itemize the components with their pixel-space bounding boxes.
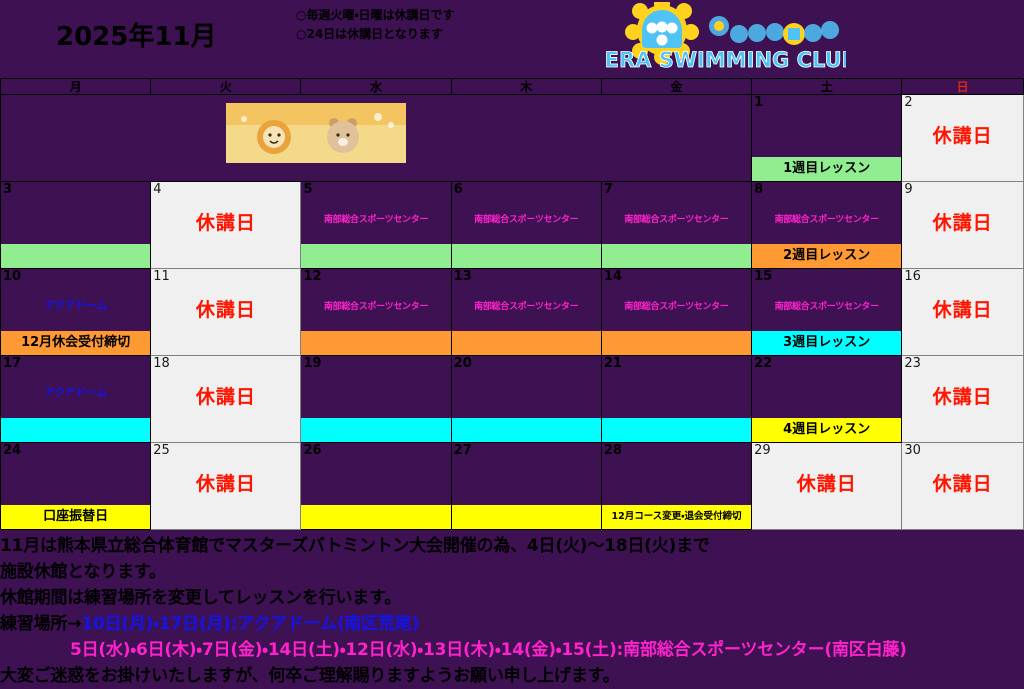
calendar-cell-class-day[interactable]: 11週目レッスン [752, 95, 902, 182]
calendar-week-row: 24口座振替日25休講日26272812月コース変更・退会受付締切29休講日30… [1, 443, 1024, 530]
calendar-week-row: 11週目レッスン2休講日 [1, 95, 1024, 182]
day-number: 22 [754, 356, 772, 371]
calendar-cell-rest-day[interactable]: 30休講日 [902, 443, 1024, 530]
calendar-cell-class-day[interactable]: 10アクアドーム12月休会受付締切 [1, 269, 151, 356]
footer-line-1: 11月は熊本県立総合体育館でマスターズバトミントン大会開催の為、4日(火)～18… [0, 533, 1024, 559]
day-number: 7 [604, 182, 613, 197]
rest-day-label: 休講日 [902, 208, 1023, 235]
day-number: 29 [754, 443, 771, 458]
day-number: 9 [904, 182, 912, 197]
day-number: 12 [303, 269, 321, 284]
rest-day-label: 休講日 [151, 295, 300, 322]
calendar-cell-class-day[interactable]: 224週目レッスン [752, 356, 902, 443]
weekday-header-3: 木 [451, 79, 601, 95]
venue-label: 南部総合スポーツセンター [752, 212, 901, 225]
calendar-cell-rest-day[interactable]: 25休講日 [151, 443, 301, 530]
venue-label: アクアドーム [1, 297, 150, 313]
calendar-cell-class-day[interactable]: 27 [451, 443, 601, 530]
calendar-cell-rest-day[interactable]: 29休講日 [752, 443, 902, 530]
day-number: 8 [754, 182, 763, 197]
day-number: 10 [3, 269, 21, 284]
venue-label: 南部総合スポーツセンター [602, 299, 751, 312]
footer-notice: 11月は熊本県立総合体育館でマスターズバトミントン大会開催の為、4日(火)～18… [0, 533, 1024, 689]
cell-band-blank [602, 418, 751, 442]
day-number: 27 [454, 443, 472, 458]
rest-day-label: 休講日 [902, 121, 1023, 148]
cell-band-blank [452, 418, 601, 442]
footer-line-3: 休館期間は練習場所を変更してレッスンを行います。 [0, 585, 1024, 611]
day-number: 28 [604, 443, 622, 458]
day-number: 11 [153, 269, 170, 284]
weekday-header-4: 金 [601, 79, 751, 95]
calendar-cell-class-day[interactable]: 13南部総合スポーツセンター [451, 269, 601, 356]
calendar-cell-class-day[interactable]: 15南部総合スポーツセンター3週目レッスン [752, 269, 902, 356]
cell-band-label: 4週目レッスン [752, 418, 901, 442]
footer-aquadome-schedule: 10日(月)・17日(月):アクアドーム(南区荒尾) [81, 614, 419, 634]
logo-graphic: TERA SWIMMING CLUB [606, 2, 846, 76]
calendar-cell-rest-day[interactable]: 4休講日 [151, 182, 301, 269]
day-number: 6 [454, 182, 463, 197]
venue-label: アクアドーム [1, 384, 150, 400]
footer-line-2: 施設休館となります。 [0, 559, 1024, 585]
calendar-body: 11週目レッスン2休講日34休講日5南部総合スポーツセンター6南部総合スポーツセ… [1, 95, 1024, 530]
calendar-cell-class-day[interactable]: 7南部総合スポーツセンター [601, 182, 751, 269]
cell-band-blank [602, 244, 751, 268]
calendar-cell-class-day[interactable]: 2812月コース変更・退会受付締切 [601, 443, 751, 530]
calendar-cell-rest-day[interactable]: 2休講日 [902, 95, 1024, 182]
rest-day-label: 休講日 [752, 469, 901, 496]
calendar-cell-class-day[interactable]: 17アクアドーム [1, 356, 151, 443]
venue-label: 南部総合スポーツセンター [602, 212, 751, 225]
calendar-cell-class-day[interactable]: 5南部総合スポーツセンター [301, 182, 451, 269]
tera-swimming-club-logo: TERA SWIMMING CLUB [606, 2, 846, 76]
day-number: 14 [604, 269, 622, 284]
weekday-header-6: 日 [902, 79, 1024, 95]
page-title: 2025年11月 [56, 16, 217, 53]
cell-band-blank [301, 331, 450, 355]
cell-band-label: 12月コース変更・退会受付締切 [602, 505, 751, 529]
day-number: 20 [454, 356, 472, 371]
venue-label: 南部総合スポーツセンター [301, 212, 450, 225]
venue-label: 南部総合スポーツセンター [301, 299, 450, 312]
day-number: 25 [153, 443, 170, 458]
rest-day-label: 休講日 [902, 469, 1023, 496]
cell-band-blank [452, 331, 601, 355]
footer-line-4: 練習場所→10日(月)・17日(月):アクアドーム(南区荒尾) [0, 611, 1024, 637]
cell-band-blank [602, 331, 751, 355]
cell-band-blank [1, 244, 150, 268]
calendar-cell-rest-day[interactable]: 16休講日 [902, 269, 1024, 356]
day-number: 26 [303, 443, 321, 458]
weekday-header-row: 月火水木金土日 [1, 79, 1024, 95]
day-number: 16 [904, 269, 921, 284]
bubbles-icon [709, 16, 839, 45]
calendar-cell-rest-day[interactable]: 9休講日 [902, 182, 1024, 269]
weekday-header-2: 水 [301, 79, 451, 95]
calendar-week-row: 34休講日5南部総合スポーツセンター6南部総合スポーツセンター7南部総合スポーツ… [1, 182, 1024, 269]
weekday-header-0: 月 [1, 79, 151, 95]
weekday-header-5: 土 [752, 79, 902, 95]
venue-label: 南部総合スポーツセンター [452, 299, 601, 312]
rest-day-label: 休講日 [151, 382, 300, 409]
day-number: 3 [3, 182, 12, 197]
weekday-header-1: 火 [151, 79, 301, 95]
cell-band-blank [301, 244, 450, 268]
rest-day-label: 休講日 [902, 382, 1023, 409]
calendar-cell-class-day[interactable]: 6南部総合スポーツセンター [451, 182, 601, 269]
header-note-1: ○毎週火曜・日曜は休講日です [296, 6, 455, 25]
calendar-cell-class-day[interactable]: 12南部総合スポーツセンター [301, 269, 451, 356]
day-number: 4 [153, 182, 161, 197]
cell-band-label: 3週目レッスン [752, 331, 901, 355]
cell-band-blank [301, 505, 450, 529]
rest-day-label: 休講日 [902, 295, 1023, 322]
calendar-cell-class-day[interactable]: 24口座振替日 [1, 443, 151, 530]
footer-practice-location-lead: 練習場所→ [0, 614, 81, 634]
page-header: 2025年11月 ○毎週火曜・日曜は休講日です ○24日は休講日となります [0, 0, 1024, 78]
venue-label: 南部総合スポーツセンター [452, 212, 601, 225]
calendar-cell-rest-day[interactable]: 18休講日 [151, 356, 301, 443]
day-number: 1 [754, 95, 763, 110]
header-note-2: ○24日は休講日となります [296, 25, 455, 44]
calendar-cell-rest-day[interactable]: 23休講日 [902, 356, 1024, 443]
footer-line-6: 大変ご迷惑をお掛けいたしますが、何卒ご理解賜りますようお願い申し上げます。 [0, 663, 1024, 689]
cell-band-blank [452, 244, 601, 268]
lion-and-bear-illustration [226, 103, 406, 163]
day-number: 19 [303, 356, 321, 371]
day-number: 30 [904, 443, 921, 458]
day-number: 18 [153, 356, 170, 371]
calendar-illustration-cell [1, 95, 752, 182]
rest-day-label: 休講日 [151, 208, 300, 235]
cell-band-label: 口座振替日 [1, 505, 150, 529]
day-number: 23 [904, 356, 921, 371]
day-number: 13 [454, 269, 472, 284]
calendar-week-row: 10アクアドーム12月休会受付締切11休講日12南部総合スポーツセンター13南部… [1, 269, 1024, 356]
day-number: 2 [904, 95, 912, 110]
footer-nanbu-schedule: 5日(水)・6日(木)・7日(金)・14日(土)・12日(水)・13日(木)・1… [0, 637, 1024, 663]
calendar-cell-class-day[interactable]: 26 [301, 443, 451, 530]
logo-wordmark: TERA SWIMMING CLUB [606, 48, 846, 72]
day-number: 21 [604, 356, 622, 371]
cell-band-label: 1週目レッスン [752, 157, 901, 181]
day-number: 24 [3, 443, 21, 458]
cell-band-label: 2週目レッスン [752, 244, 901, 268]
calendar-cell-class-day[interactable]: 3 [1, 182, 151, 269]
calendar-cell-rest-day[interactable]: 11休講日 [151, 269, 301, 356]
calendar-cell-class-day[interactable]: 21 [601, 356, 751, 443]
calendar-table: 月火水木金土日 11週目レッスン2休講日34休講日5南部総合スポーツセンター6南… [0, 78, 1024, 530]
cell-band-label: 12月休会受付締切 [1, 331, 150, 355]
venue-label: 南部総合スポーツセンター [752, 299, 901, 312]
header-notes: ○毎週火曜・日曜は休講日です ○24日は休講日となります [296, 6, 455, 44]
cell-band-blank [301, 418, 450, 442]
day-number: 5 [303, 182, 312, 197]
calendar-cell-class-day[interactable]: 20 [451, 356, 601, 443]
cell-band-blank [452, 505, 601, 529]
calendar-week-row: 17アクアドーム18休講日192021224週目レッスン23休講日 [1, 356, 1024, 443]
calendar-cell-class-day[interactable]: 8南部総合スポーツセンター2週目レッスン [752, 182, 902, 269]
day-number: 17 [3, 356, 21, 371]
calendar-cell-class-day[interactable]: 14南部総合スポーツセンター [601, 269, 751, 356]
day-number: 15 [754, 269, 772, 284]
cell-band-blank [1, 418, 150, 442]
rest-day-label: 休講日 [151, 469, 300, 496]
calendar-cell-class-day[interactable]: 19 [301, 356, 451, 443]
